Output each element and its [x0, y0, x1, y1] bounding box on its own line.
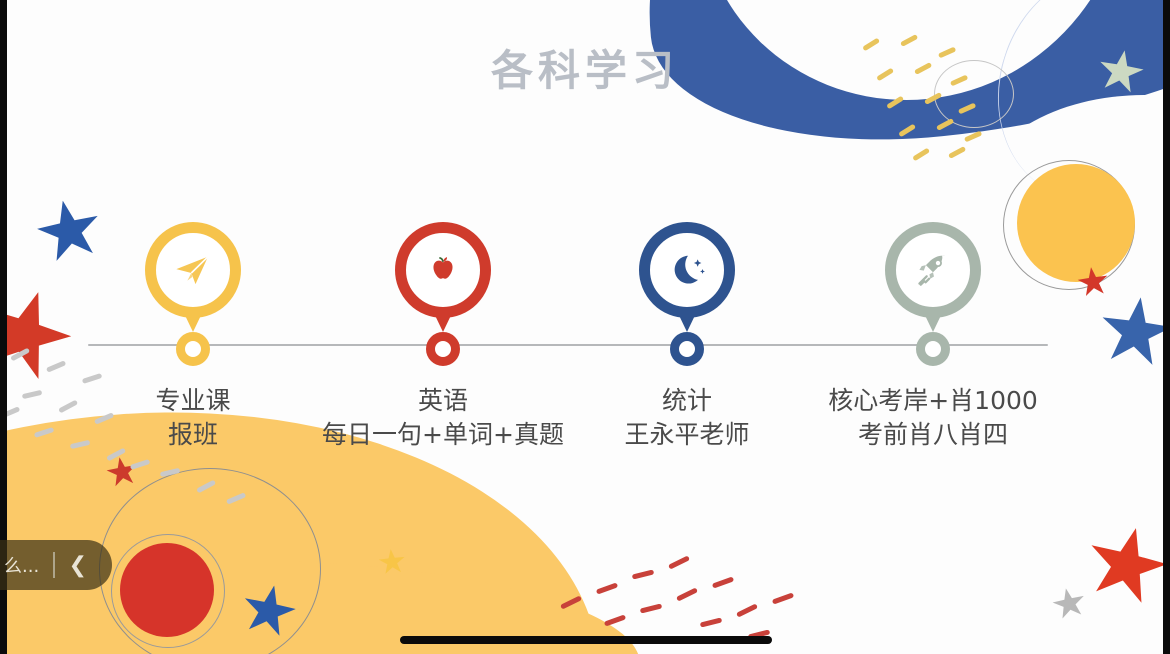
- map-pin-marker: [395, 222, 491, 334]
- letterbox-edge-right: [1163, 0, 1170, 654]
- timeline-item-label-line2: 考前肖八肖四: [828, 418, 1038, 452]
- timeline-item-1: 专业课报班: [103, 222, 283, 334]
- video-player-screen: 各科学习 专业课报班 英语每日一句+单词+真题 统计王永平老师 核: [0, 0, 1170, 654]
- timeline-item-label-line2: 报班: [155, 418, 230, 452]
- home-indicator[interactable]: [400, 636, 772, 644]
- timeline-item-label-line1: 专业课: [155, 384, 230, 418]
- timeline-item-label-line1: 统计: [624, 384, 749, 418]
- timeline-node: [176, 332, 210, 366]
- timeline-item-label-line1: 核心考岸+肖1000: [828, 384, 1038, 418]
- timeline-item-label-line2: 王永平老师: [624, 418, 749, 452]
- apple-icon: [395, 222, 491, 318]
- timeline-item-label: 英语每日一句+单词+真题: [322, 384, 564, 452]
- player-overlay-control[interactable]: 么... ❮: [0, 540, 112, 590]
- timeline-item-label: 专业课报班: [155, 384, 230, 452]
- timeline-item-4: 核心考岸+肖1000考前肖八肖四: [843, 222, 1023, 334]
- timeline-items: 专业课报班 英语每日一句+单词+真题 统计王永平老师 核心考岸+肖1000考前肖…: [0, 0, 1170, 654]
- overlay-divider: [53, 552, 55, 578]
- moon-stars-icon: [639, 222, 735, 318]
- timeline-item-2: 英语每日一句+单词+真题: [353, 222, 533, 334]
- map-pin-marker: [639, 222, 735, 334]
- map-pin-marker: [885, 222, 981, 334]
- timeline-item-3: 统计王永平老师: [597, 222, 777, 334]
- paper-plane-icon: [145, 222, 241, 318]
- timeline-node: [916, 332, 950, 366]
- rocket-icon: [885, 222, 981, 318]
- timeline-item-label-line2: 每日一句+单词+真题: [322, 418, 564, 452]
- timeline-item-label: 统计王永平老师: [624, 384, 749, 452]
- timeline-node: [426, 332, 460, 366]
- page-title: 各科学习: [0, 37, 1170, 98]
- map-pin-marker: [145, 222, 241, 334]
- timeline-node: [670, 332, 704, 366]
- timeline-item-label-line1: 英语: [322, 384, 564, 418]
- overlay-title-text: 么...: [0, 552, 39, 578]
- timeline-item-label: 核心考岸+肖1000考前肖八肖四: [828, 384, 1038, 452]
- chevron-left-icon[interactable]: ❮: [69, 554, 87, 576]
- slide-canvas: 各科学习 专业课报班 英语每日一句+单词+真题 统计王永平老师 核: [0, 0, 1170, 654]
